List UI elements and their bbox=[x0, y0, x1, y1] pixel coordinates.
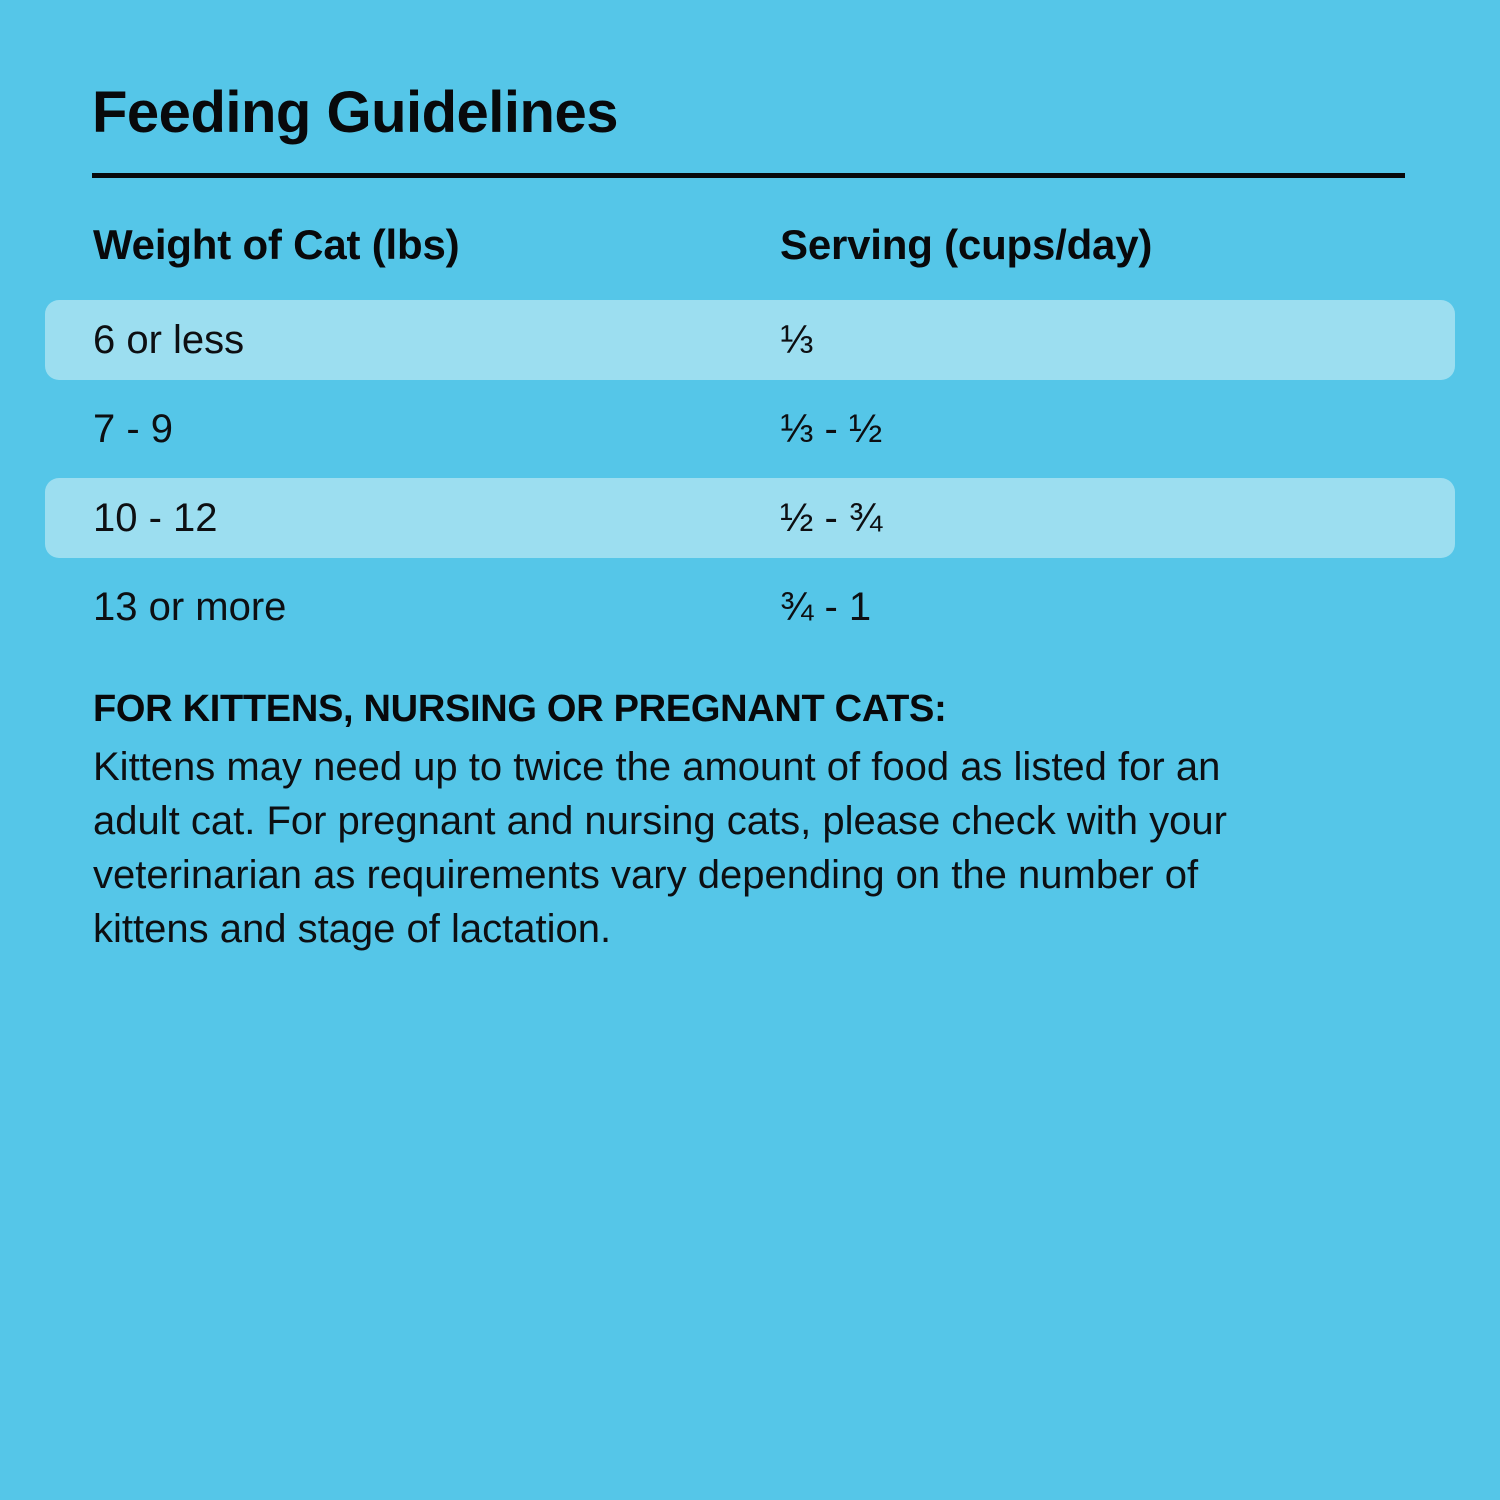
cell-serving: ⅓ bbox=[780, 312, 813, 368]
table-row: 6 or less ⅓ bbox=[0, 300, 1500, 389]
column-header-weight: Weight of Cat (lbs) bbox=[93, 221, 459, 269]
cell-serving: ⅓ - ½ bbox=[780, 401, 882, 457]
cell-serving: ½ - ¾ bbox=[780, 490, 882, 546]
title-divider bbox=[92, 173, 1405, 178]
column-header-serving: Serving (cups/day) bbox=[780, 221, 1152, 269]
feeding-guidelines-panel: Feeding Guidelines Weight of Cat (lbs) S… bbox=[0, 0, 1500, 1500]
cell-serving: ¾ - 1 bbox=[780, 579, 871, 635]
row-highlight-band bbox=[45, 389, 1455, 469]
cell-weight: 13 or more bbox=[93, 579, 286, 635]
notes-body: Kittens may need up to twice the amount … bbox=[93, 740, 1308, 956]
page-title: Feeding Guidelines bbox=[92, 80, 618, 147]
row-highlight-band bbox=[45, 478, 1455, 558]
cell-weight: 6 or less bbox=[93, 312, 244, 368]
table-row: 13 or more ¾ - 1 bbox=[0, 567, 1500, 656]
table-row: 7 - 9 ⅓ - ½ bbox=[0, 389, 1500, 478]
table-header-row: Weight of Cat (lbs) Serving (cups/day) bbox=[0, 213, 1500, 300]
cell-weight: 7 - 9 bbox=[93, 401, 173, 457]
special-feeding-notes: FOR KITTENS, NURSING OR PREGNANT CATS: K… bbox=[93, 685, 1353, 956]
table-row: 10 - 12 ½ - ¾ bbox=[0, 478, 1500, 567]
cell-weight: 10 - 12 bbox=[93, 490, 218, 546]
feeding-table: Weight of Cat (lbs) Serving (cups/day) 6… bbox=[0, 213, 1500, 656]
row-highlight-band bbox=[45, 300, 1455, 380]
notes-heading: FOR KITTENS, NURSING OR PREGNANT CATS: bbox=[93, 685, 1353, 734]
